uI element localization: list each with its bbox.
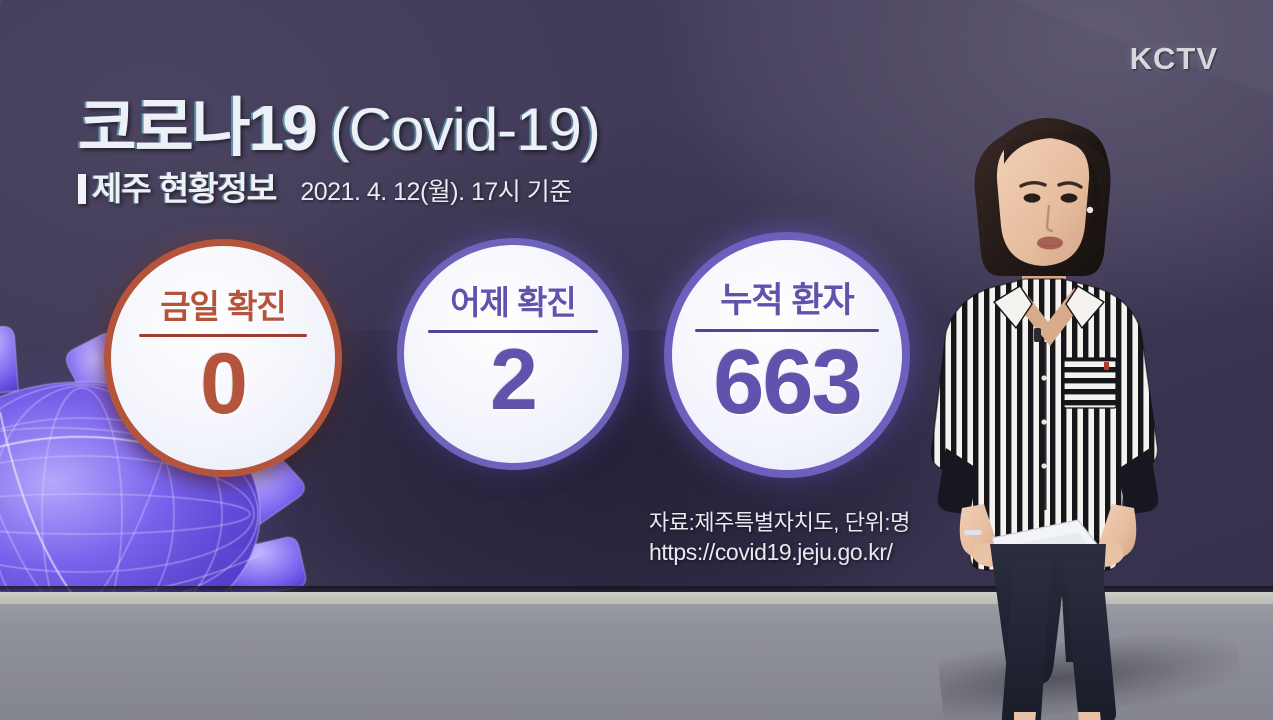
source-line-url: https://covid19.jeju.go.kr/ [649,537,910,568]
subtitle-accent-bar [78,174,86,204]
subtitle-row: 제주 현황정보 2021. 4. 12(월). 17시 기준 [78,170,678,208]
broadcast-frame: 코로나19 (Covid-19) 제주 현황정보 2021. 4. 12(월).… [0,0,1273,720]
stat-circle-total: 누적 환자 663 [664,232,910,478]
title-korean: 코로나19 [78,96,316,160]
stat-circle-today: 금일 확진 0 [104,239,342,477]
stat-value-yesterday: 2 [490,337,536,423]
broadcaster-logo: KCTV [1130,41,1218,77]
date-note: 2021. 4. 12(월). 17시 기준 [300,172,571,208]
source-credit: 자료:제주특별자치도, 단위:명 https://covid19.jeju.go… [649,508,910,568]
stat-label-total: 누적 환자 [720,283,854,318]
stat-value-total: 663 [713,336,861,428]
stat-circle-yesterday: 어제 확진 2 [397,238,629,470]
headline-block: 코로나19 (Covid-19) 제주 현황정보 2021. 4. 12(월).… [78,96,678,208]
stat-value-today: 0 [200,341,246,427]
stat-label-yesterday: 어제 확진 [450,286,576,319]
subtitle-text: 제주 현황정보 [92,172,276,205]
stat-label-today: 금일 확진 [160,290,286,323]
title-english: (Covid-19) [330,100,600,160]
studio-floor [0,604,1273,720]
title-row: 코로나19 (Covid-19) [78,96,678,160]
source-line-organisation: 자료:제주특별자치도, 단위:명 [649,508,910,537]
